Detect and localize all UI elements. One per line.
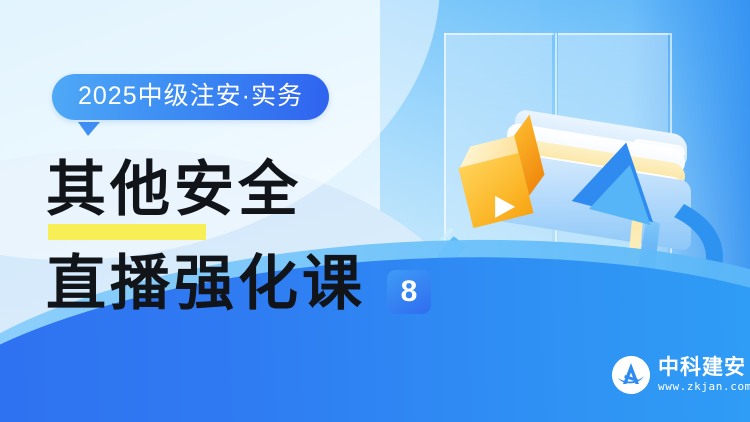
title-highlight-bar [48, 224, 206, 240]
brand-logo[interactable]: 中科建安 www.zkjan.com [612, 356, 750, 394]
page-title-line-1: 其他安全 [46, 158, 302, 222]
episode-number-badge: 8 [387, 270, 431, 314]
panel-top-2 [558, 33, 670, 35]
course-promo-banner: 2025中级注安·实务 其他安全 直播强化课 8 中科建安 www.zkjan.… [0, 0, 750, 422]
brand-name: 中科建安 [658, 356, 750, 378]
circle-a-logo-icon [612, 356, 650, 394]
brand-website: www.zkjan.com [658, 380, 750, 394]
pill-tail [78, 122, 100, 136]
play-triangle-icon [495, 196, 515, 218]
page-title-line-2: 直播强化课 [46, 252, 366, 316]
course-category-pill: 2025中级注安·实务 [52, 74, 329, 120]
panel-top-1 [444, 33, 554, 35]
brand-text-block: 中科建安 www.zkjan.com [658, 356, 750, 394]
